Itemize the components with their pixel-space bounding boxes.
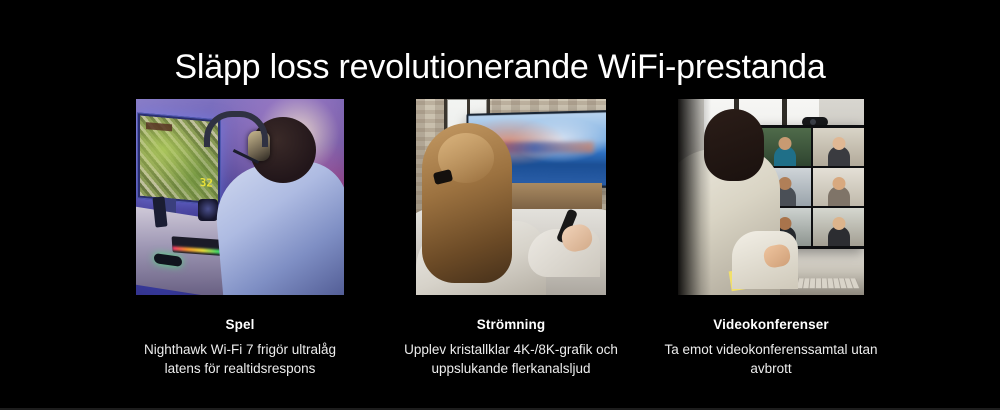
speaker-icon [198, 199, 218, 221]
participant-tile [813, 208, 864, 246]
participant-head [779, 177, 792, 190]
feature-title-streaming: Strömning [477, 317, 545, 332]
worker-hair [704, 109, 764, 181]
feature-title-gaming: Spel [226, 317, 255, 332]
headset-band [204, 111, 268, 147]
photo-vignette [678, 99, 711, 295]
participant-head [833, 137, 846, 150]
promo-banner: Släpp loss revolutionerande WiFi-prestan… [0, 0, 1000, 410]
streaming-photo [416, 99, 606, 295]
video-conference-photo [678, 99, 864, 295]
feature-description-video-conferencing: Ta emot videokonferenssamtal utan avbrot… [656, 340, 886, 378]
feature-title-video-conferencing: Videokonferenser [713, 317, 828, 332]
participant-tile [813, 128, 864, 166]
feature-card-streaming: Strömning Upplev kristallklar 4K-/8K-gra… [416, 99, 606, 378]
feature-row: 32 Spel Nighthawk Wi-Fi 7 frigör ultralå… [0, 99, 1000, 378]
participant-head [833, 177, 846, 190]
page-title: Släpp loss revolutionerande WiFi-prestan… [0, 45, 1000, 89]
participant-tile [813, 168, 864, 206]
feature-description-gaming: Nighthawk Wi-Fi 7 frigör ultralåg latens… [125, 340, 355, 378]
participant-head [779, 217, 792, 230]
viewer-hair [422, 123, 512, 283]
feature-card-video-conferencing: Videokonferenser Ta emot videokonferenss… [678, 99, 864, 378]
participant-head [833, 217, 846, 230]
feature-card-gaming: 32 Spel Nighthawk Wi-Fi 7 frigör ultralå… [136, 99, 344, 378]
gaming-photo: 32 [136, 99, 344, 295]
participant-head [779, 137, 792, 150]
game-hud-score: 32 [200, 176, 213, 190]
feature-description-streaming: Upplev kristallklar 4K-/8K-grafik och up… [396, 340, 626, 378]
